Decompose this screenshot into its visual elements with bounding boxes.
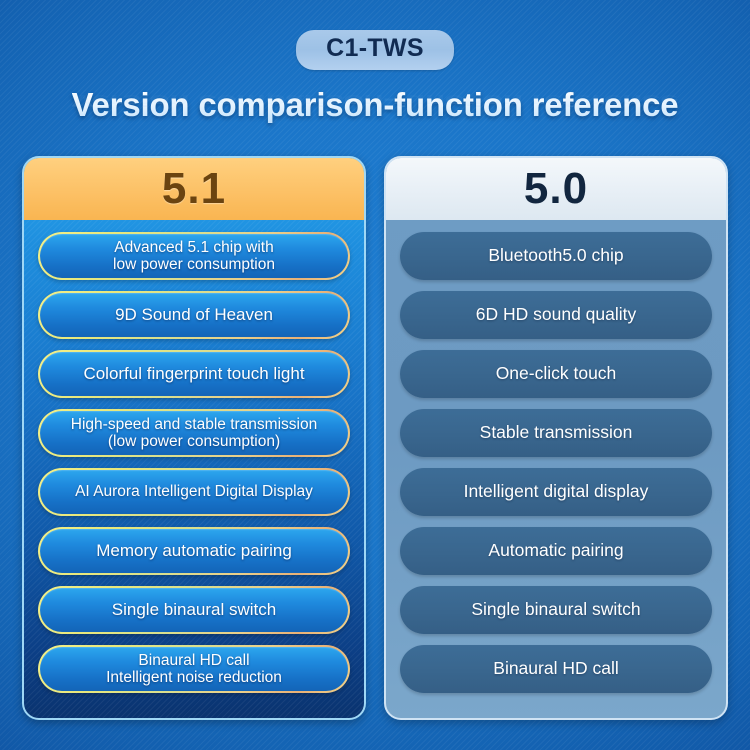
feature-item[interactable]: Single binaural switch [38, 586, 350, 634]
feature-line: Advanced 5.1 chip with [113, 239, 275, 256]
feature-line: Memory automatic pairing [96, 541, 292, 560]
feature-item[interactable]: Memory automatic pairing [38, 527, 350, 575]
feature-text: High-speed and stable transmission (low … [71, 416, 317, 451]
version-label-50: 5.0 [524, 167, 588, 211]
feature-line: 6D HD sound quality [476, 305, 637, 325]
feature-line: Automatic pairing [488, 541, 623, 561]
feature-list-50: Bluetooth5.0 chip 6D HD sound quality On… [386, 220, 726, 718]
feature-line: 9D Sound of Heaven [115, 305, 273, 324]
column-header-50: 5.0 [386, 158, 726, 220]
feature-line: Single binaural switch [471, 600, 640, 620]
feature-item[interactable]: Intelligent digital display [400, 468, 712, 516]
feature-line: AI Aurora Intelligent Digital Display [75, 483, 313, 500]
column-version-50: 5.0 Bluetooth5.0 chip 6D HD sound qualit… [384, 156, 728, 720]
feature-item[interactable]: Automatic pairing [400, 527, 712, 575]
product-badge-container: C1-TWS [0, 30, 750, 70]
column-header-51: 5.1 [24, 158, 364, 220]
feature-line: One-click touch [496, 364, 617, 384]
page-title: Version comparison-function reference [72, 86, 679, 124]
product-model-badge: C1-TWS [296, 30, 454, 70]
feature-line: Single binaural switch [112, 600, 276, 619]
feature-line: low power consumption [113, 256, 275, 273]
feature-line: Binaural HD call [106, 652, 282, 669]
feature-line: Colorful fingerprint touch light [83, 364, 304, 383]
version-label-51: 5.1 [162, 167, 226, 211]
feature-item[interactable]: High-speed and stable transmission (low … [38, 409, 350, 457]
feature-line: Intelligent digital display [464, 482, 649, 502]
feature-item[interactable]: Single binaural switch [400, 586, 712, 634]
feature-item[interactable]: Advanced 5.1 chip with low power consump… [38, 232, 350, 280]
feature-item[interactable]: Colorful fingerprint touch light [38, 350, 350, 398]
column-version-51: 5.1 Advanced 5.1 chip with low power con… [22, 156, 366, 720]
feature-line: Binaural HD call [493, 659, 618, 679]
feature-line: Intelligent noise reduction [106, 669, 282, 686]
feature-line: (low power consumption) [71, 433, 317, 450]
feature-line: Stable transmission [480, 423, 633, 443]
feature-item[interactable]: AI Aurora Intelligent Digital Display [38, 468, 350, 516]
feature-item[interactable]: Bluetooth5.0 chip [400, 232, 712, 280]
feature-item[interactable]: Binaural HD call Intelligent noise reduc… [38, 645, 350, 693]
feature-item[interactable]: 9D Sound of Heaven [38, 291, 350, 339]
feature-line: Bluetooth5.0 chip [488, 246, 623, 266]
feature-text: Binaural HD call Intelligent noise reduc… [106, 652, 282, 687]
feature-text: Advanced 5.1 chip with low power consump… [113, 239, 275, 274]
feature-item[interactable]: One-click touch [400, 350, 712, 398]
feature-line: High-speed and stable transmission [71, 416, 317, 433]
page-title-container: Version comparison-function reference Ve… [0, 86, 750, 148]
feature-list-51: Advanced 5.1 chip with low power consump… [24, 220, 364, 718]
feature-item[interactable]: Binaural HD call [400, 645, 712, 693]
comparison-columns: 5.1 Advanced 5.1 chip with low power con… [22, 156, 728, 720]
feature-item[interactable]: 6D HD sound quality [400, 291, 712, 339]
comparison-poster: C1-TWS Version comparison-function refer… [0, 0, 750, 750]
feature-item[interactable]: Stable transmission [400, 409, 712, 457]
